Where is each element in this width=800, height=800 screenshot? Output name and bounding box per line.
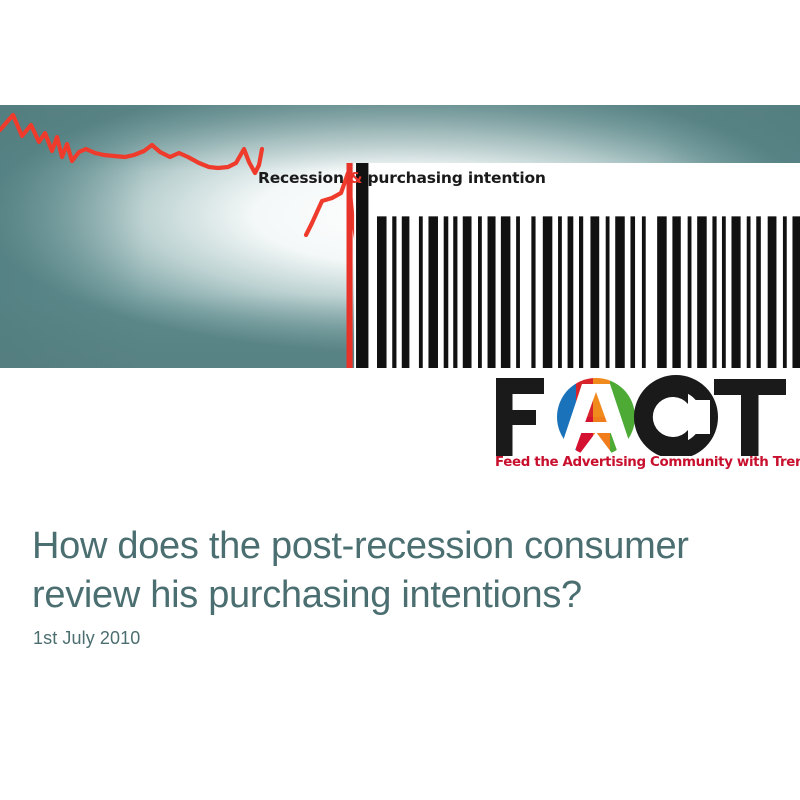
logo-letter-t (714, 379, 786, 456)
barcode-graphic: Recession & purchasing intention (240, 163, 552, 301)
logo-letter-a-circle (557, 378, 636, 456)
barcode-label: Recession & purchasing intention (258, 166, 538, 190)
barcode-guard-left (347, 163, 353, 368)
barcode-label-part2: purchasing intention (362, 169, 545, 187)
presentation-date: 1st July 2010 (33, 628, 140, 649)
barcode-label-part1: Recession (258, 169, 349, 187)
barcode-bar (356, 163, 368, 368)
fact-logo-mark (492, 370, 792, 456)
recession-banner-image: Recession & purchasing intention (0, 105, 800, 368)
page-title: How does the post-recession consumer rev… (32, 522, 762, 620)
presentation-slide: Recession & purchasing intention (0, 0, 800, 800)
barcode-label-ampersand: & (349, 169, 362, 187)
fact-logo-tagline: Feed the Advertising Community with Tren… (495, 454, 792, 472)
logo-letter-c (636, 383, 710, 451)
fact-logo: Feed the Advertising Community with Tren… (492, 370, 792, 480)
barcode-bars (240, 163, 800, 368)
logo-letter-f (496, 378, 544, 456)
